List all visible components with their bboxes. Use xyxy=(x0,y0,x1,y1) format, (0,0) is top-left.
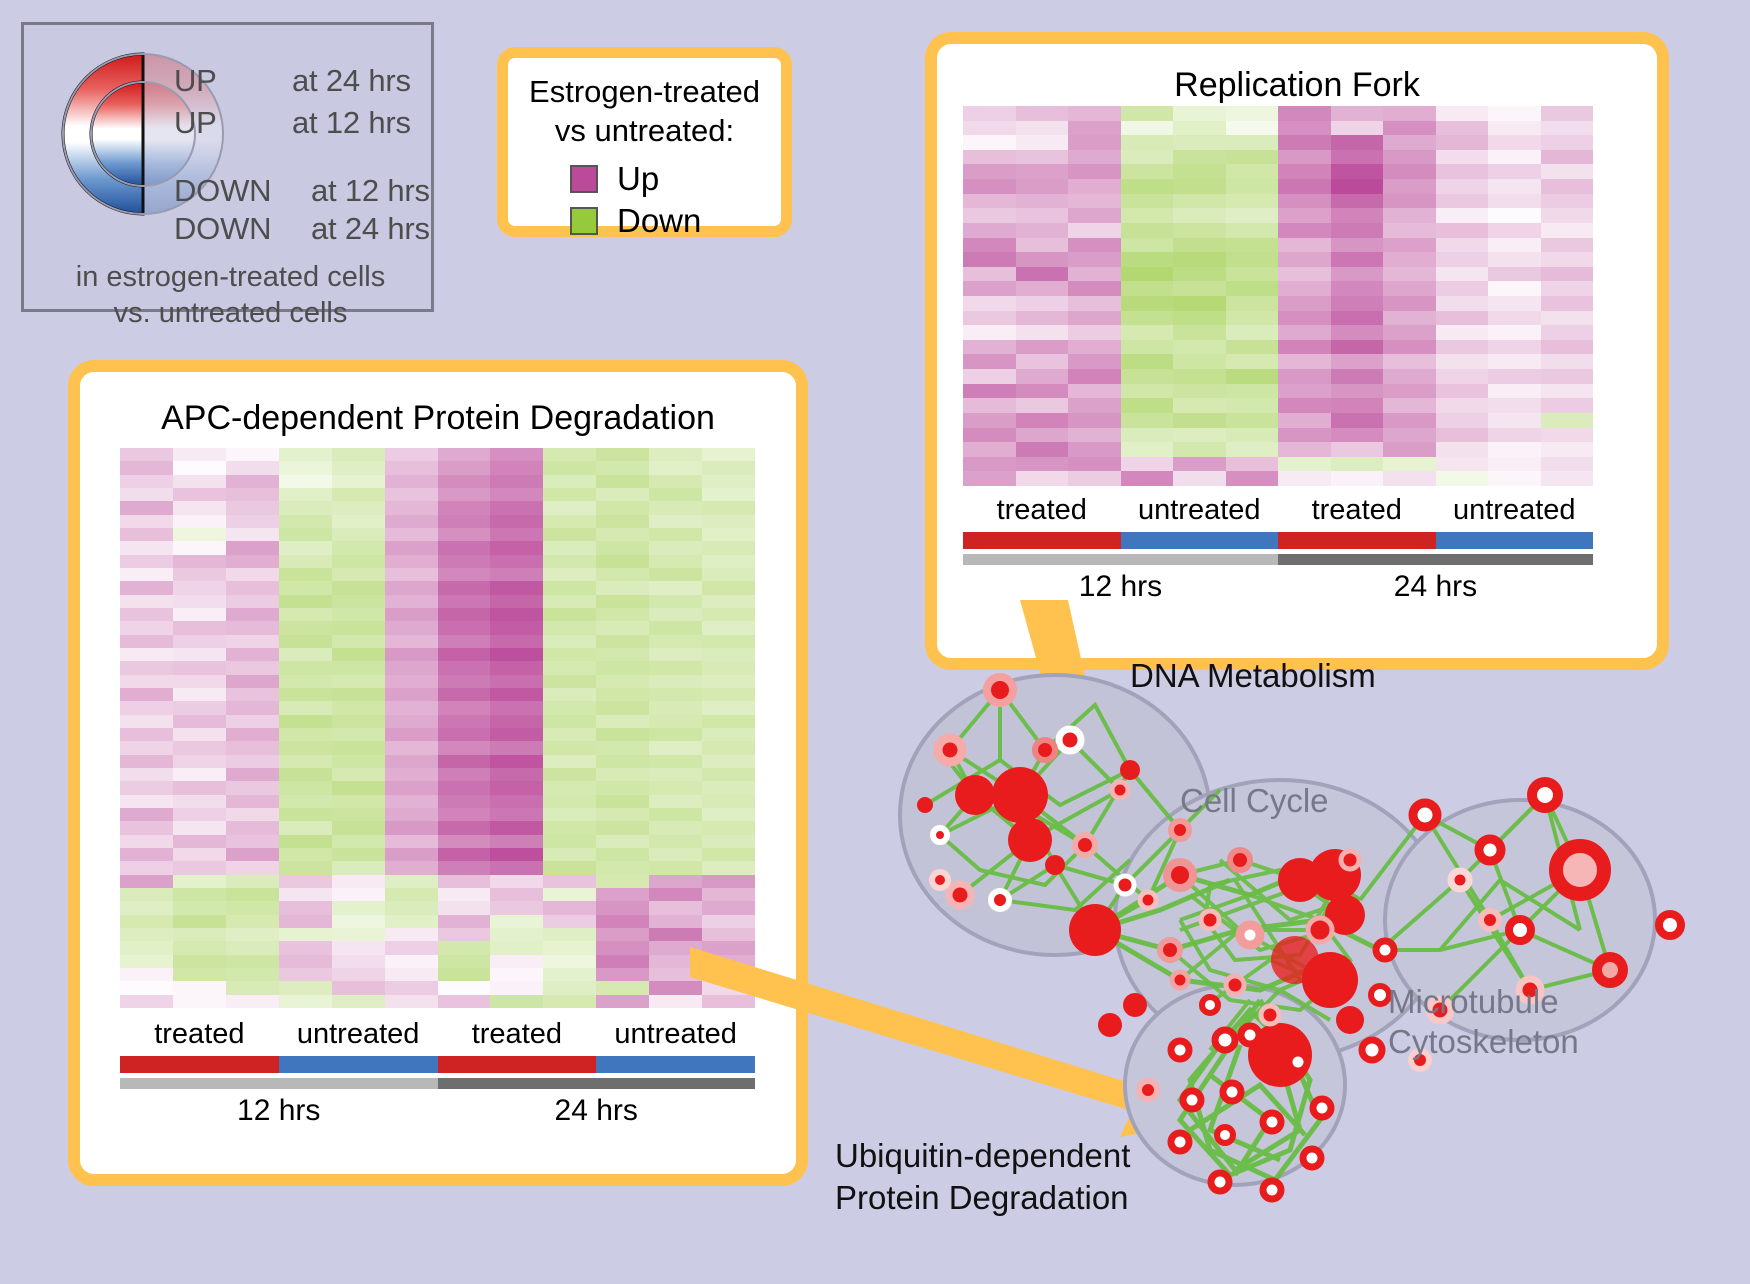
heatmap-cell xyxy=(332,808,385,821)
heatmap-cell xyxy=(543,461,596,474)
heatmap-cell xyxy=(596,995,649,1008)
heatmap-cell xyxy=(649,808,702,821)
heatmap-cell xyxy=(438,501,491,514)
heatmap-cell xyxy=(596,528,649,541)
heatmap-cell xyxy=(543,728,596,741)
heatmap-cell xyxy=(226,568,279,581)
heatmap-cell xyxy=(1226,413,1279,428)
heatmap-cell xyxy=(438,995,491,1008)
heatmap-cell xyxy=(120,755,173,768)
heatmap-cell xyxy=(1488,354,1541,369)
heatmap-cell xyxy=(702,715,755,728)
heatmap-cell xyxy=(385,888,438,901)
group-color-bar-apc xyxy=(120,1056,755,1073)
heatmap-cell xyxy=(120,768,173,781)
heatmap-cell xyxy=(1016,471,1069,486)
heatmap-cell xyxy=(702,581,755,594)
heatmap-cell xyxy=(1226,121,1279,136)
group-color-segment xyxy=(279,1056,438,1073)
heatmap-cell xyxy=(543,901,596,914)
heatmap-cell xyxy=(649,715,702,728)
heatmap-cell xyxy=(120,781,173,794)
heatmap-cell xyxy=(702,755,755,768)
heatmap-cell xyxy=(332,581,385,594)
heatmap-cell xyxy=(1016,164,1069,179)
heatmap-cell xyxy=(1278,354,1331,369)
heatmap-cell xyxy=(120,928,173,941)
heatmap-cell xyxy=(1173,325,1226,340)
heatmap-cell xyxy=(1541,442,1594,457)
heatmap-cell xyxy=(1173,252,1226,267)
heatmap-cell xyxy=(173,595,226,608)
heatmap-cell xyxy=(543,981,596,994)
heatmap-cell xyxy=(490,928,543,941)
network-label-microtubule-cytoskeleton: Microtubule Cytoskeleton xyxy=(1388,982,1579,1062)
heatmap-cell xyxy=(1121,471,1174,486)
heatmap-cell xyxy=(279,968,332,981)
heatmap-cell xyxy=(1488,369,1541,384)
heatmap-cell xyxy=(1068,471,1121,486)
heatmap-cell xyxy=(120,595,173,608)
heatmap-cell xyxy=(332,901,385,914)
heatmap-cell xyxy=(1278,413,1331,428)
heatmap-cell xyxy=(1016,208,1069,223)
heatmap-cell xyxy=(702,488,755,501)
heatmap-cell xyxy=(120,541,173,554)
heatmap-cell xyxy=(438,595,491,608)
heatmap-cell xyxy=(279,888,332,901)
heatmap-cell xyxy=(438,981,491,994)
heatmap-cell xyxy=(1541,296,1594,311)
heatmap-cell xyxy=(1436,413,1489,428)
heatmap-cell xyxy=(543,768,596,781)
heatmap-cell xyxy=(702,461,755,474)
heatmap-cell xyxy=(1016,384,1069,399)
heatmap-cell xyxy=(173,875,226,888)
heatmap-cell xyxy=(596,501,649,514)
heatmap-cell xyxy=(1226,135,1279,150)
heatmap-cell xyxy=(332,995,385,1008)
heatmap-cell xyxy=(596,475,649,488)
heatmap-cell xyxy=(490,995,543,1008)
timepoint-color-segment xyxy=(1278,554,1593,565)
heatmap-cell xyxy=(385,808,438,821)
heatmap-cell xyxy=(1278,164,1331,179)
heatmap-cell xyxy=(1436,179,1489,194)
heatmap-cell xyxy=(1383,164,1436,179)
heatmap-cell xyxy=(1383,384,1436,399)
heatmap-cell xyxy=(226,475,279,488)
timepoint-label: 12 hrs xyxy=(963,570,1278,604)
heatmap-cell xyxy=(120,715,173,728)
heatmap-cell xyxy=(173,675,226,688)
heatmap-cell xyxy=(490,555,543,568)
heatmap-cell xyxy=(1488,325,1541,340)
heatmap-cell xyxy=(332,928,385,941)
group-color-segment xyxy=(1436,532,1594,549)
heatmap-cell xyxy=(438,715,491,728)
heatmap-cell xyxy=(702,835,755,848)
heatmap-cell xyxy=(1331,369,1384,384)
network-label-cell-cycle: Cell Cycle xyxy=(1180,782,1329,820)
heatmap-cell xyxy=(226,555,279,568)
heatmap-cell xyxy=(649,555,702,568)
heatmap-cell xyxy=(332,568,385,581)
heatmap-cell xyxy=(543,955,596,968)
heatmap-replication-fork xyxy=(963,106,1593,486)
heatmap-cell xyxy=(543,835,596,848)
heatmap-cell xyxy=(1278,194,1331,209)
panel-title-replication-fork: Replication Fork xyxy=(937,66,1657,105)
heatmap-cell xyxy=(1121,150,1174,165)
heatmap-cell xyxy=(226,728,279,741)
heatmap-cell xyxy=(1278,267,1331,282)
heatmap-cell xyxy=(1016,252,1069,267)
heatmap-cell xyxy=(596,715,649,728)
heatmap-cell xyxy=(385,728,438,741)
heatmap-cell xyxy=(702,515,755,528)
heatmap-cell xyxy=(1436,398,1489,413)
heatmap-cell xyxy=(438,648,491,661)
heatmap-cell xyxy=(490,661,543,674)
heatmap-cell xyxy=(649,581,702,594)
heatmap-cell xyxy=(649,848,702,861)
heatmap-cell xyxy=(1173,442,1226,457)
group-color-segment xyxy=(438,1056,597,1073)
heatmap-cell xyxy=(332,701,385,714)
heatmap-cell xyxy=(596,635,649,648)
heatmap-cell xyxy=(1068,428,1121,443)
heatmap-cell xyxy=(963,267,1016,282)
heatmap-cell xyxy=(173,515,226,528)
heatmap-cell xyxy=(173,968,226,981)
heatmap-cell xyxy=(596,688,649,701)
heatmap-cell xyxy=(1173,179,1226,194)
key-row-0-left: UP xyxy=(174,63,217,99)
heatmap-cell xyxy=(1488,296,1541,311)
heatmap-cell xyxy=(1278,471,1331,486)
heatmap-cell xyxy=(120,901,173,914)
heatmap-cell xyxy=(1068,223,1121,238)
heatmap-cell xyxy=(543,621,596,634)
annotation-replication-fork: treateduntreatedtreateduntreated 12 hrs2… xyxy=(963,494,1593,604)
heatmap-cell xyxy=(1436,354,1489,369)
heatmap-cell xyxy=(332,661,385,674)
heatmap-cell xyxy=(385,768,438,781)
heatmap-cell xyxy=(963,384,1016,399)
heatmap-cell xyxy=(438,955,491,968)
heatmap-cell xyxy=(173,448,226,461)
heatmap-cell xyxy=(596,875,649,888)
heatmap-cell xyxy=(649,621,702,634)
heatmap-cell xyxy=(120,848,173,861)
heatmap-cell xyxy=(1226,428,1279,443)
heatmap-cell xyxy=(226,515,279,528)
heatmap-cell xyxy=(332,795,385,808)
heatmap-cell xyxy=(649,675,702,688)
heatmap-cell xyxy=(1016,106,1069,121)
heatmap-cell xyxy=(543,675,596,688)
heatmap-cell xyxy=(120,981,173,994)
heatmap-cell xyxy=(120,648,173,661)
heatmap-cell xyxy=(596,701,649,714)
heatmap-cell xyxy=(596,541,649,554)
heatmap-cell xyxy=(596,461,649,474)
heatmap-cell xyxy=(279,515,332,528)
heatmap-cell xyxy=(120,808,173,821)
network-label-microtubule-line1: Microtubule xyxy=(1388,982,1579,1022)
heatmap-cell xyxy=(1016,194,1069,209)
heatmap-cell xyxy=(120,795,173,808)
heatmap-cell xyxy=(438,848,491,861)
heatmap-cell xyxy=(1121,311,1174,326)
heatmap-cell xyxy=(1226,164,1279,179)
heatmap-cell xyxy=(332,488,385,501)
heatmap-cell xyxy=(1278,325,1331,340)
heatmap-cell xyxy=(543,781,596,794)
heatmap-cell xyxy=(173,541,226,554)
heatmap-cell xyxy=(543,928,596,941)
heatmap-cell xyxy=(120,675,173,688)
legend-item-up: Up xyxy=(570,162,659,195)
heatmap-cell xyxy=(1068,281,1121,296)
heatmap-cell xyxy=(438,568,491,581)
group-label: treated xyxy=(1278,494,1436,527)
network-label-ubiquitin-line2: Protein Degradation xyxy=(835,1177,1130,1219)
heatmap-cell xyxy=(702,475,755,488)
heatmap-cell xyxy=(1541,325,1594,340)
heatmap-cell xyxy=(1173,296,1226,311)
heatmap-cell xyxy=(1331,106,1384,121)
heatmap-cell xyxy=(649,608,702,621)
heatmap-cell xyxy=(1278,442,1331,457)
heatmap-cell xyxy=(226,781,279,794)
heatmap-cell xyxy=(173,915,226,928)
heatmap-cell xyxy=(1331,121,1384,136)
heatmap-cell xyxy=(1331,354,1384,369)
heatmap-cell xyxy=(1121,238,1174,253)
heatmap-cell xyxy=(543,755,596,768)
heatmap-cell xyxy=(332,981,385,994)
heatmap-cell xyxy=(438,808,491,821)
heatmap-cell xyxy=(1016,135,1069,150)
heatmap-cell xyxy=(1068,311,1121,326)
heatmap-cell xyxy=(332,915,385,928)
heatmap-cell xyxy=(1226,442,1279,457)
heatmap-cell xyxy=(1121,398,1174,413)
heatmap-cell xyxy=(1383,252,1436,267)
heatmap-cell xyxy=(1436,194,1489,209)
heatmap-cell xyxy=(1173,223,1226,238)
heatmap-cell xyxy=(226,675,279,688)
legend-swatch-down xyxy=(570,207,598,235)
heatmap-cell xyxy=(649,861,702,874)
heatmap-cell xyxy=(438,728,491,741)
heatmap-cell xyxy=(332,648,385,661)
heatmap-cell xyxy=(596,595,649,608)
heatmap-cell xyxy=(1278,121,1331,136)
heatmap-cell xyxy=(385,461,438,474)
heatmap-cell xyxy=(385,968,438,981)
heatmap-cell xyxy=(120,568,173,581)
heatmap-cell xyxy=(332,968,385,981)
group-color-bar-replication-fork xyxy=(963,532,1593,549)
heatmap-cell xyxy=(1226,325,1279,340)
heatmap-cell xyxy=(543,941,596,954)
heatmap-cell xyxy=(1541,428,1594,443)
heatmap-cell xyxy=(596,768,649,781)
heatmap-cell xyxy=(332,888,385,901)
heatmap-cell xyxy=(332,688,385,701)
heatmap-cell xyxy=(1278,252,1331,267)
heatmap-cell xyxy=(596,728,649,741)
heatmap-cell xyxy=(1226,384,1279,399)
heatmap-cell xyxy=(1436,369,1489,384)
heatmap-cell xyxy=(1436,442,1489,457)
heatmap-cell xyxy=(385,741,438,754)
heatmap-cell xyxy=(490,955,543,968)
heatmap-cell xyxy=(1541,106,1594,121)
heatmap-cell xyxy=(438,475,491,488)
heatmap-cell xyxy=(1278,106,1331,121)
heatmap-cell xyxy=(173,795,226,808)
heatmap-cell xyxy=(1016,311,1069,326)
heatmap-cell xyxy=(1541,179,1594,194)
heatmap-cell xyxy=(1331,340,1384,355)
heatmap-cell xyxy=(1068,135,1121,150)
heatmap-cell xyxy=(279,915,332,928)
heatmap-cell xyxy=(1121,267,1174,282)
heatmap-cell xyxy=(385,928,438,941)
heatmap-cell xyxy=(649,661,702,674)
heatmap-cell xyxy=(173,688,226,701)
legend-title-line2: vs untreated: xyxy=(508,111,781,150)
heatmap-cell xyxy=(279,595,332,608)
heatmap-cell xyxy=(1121,281,1174,296)
heatmap-cell xyxy=(438,861,491,874)
heatmap-cell xyxy=(596,608,649,621)
heatmap-cell xyxy=(596,741,649,754)
heatmap-cell xyxy=(1488,442,1541,457)
heatmap-cell xyxy=(279,768,332,781)
heatmap-cell xyxy=(490,675,543,688)
heatmap-cell xyxy=(490,608,543,621)
heatmap-cell xyxy=(1016,325,1069,340)
heatmap-cell xyxy=(1488,238,1541,253)
heatmap-cell xyxy=(596,448,649,461)
heatmap-cell xyxy=(385,595,438,608)
heatmap-cell xyxy=(120,461,173,474)
network-label-ubiquitin-line1: Ubiquitin-dependent xyxy=(835,1135,1130,1177)
timepoint-color-bar-apc xyxy=(120,1078,755,1089)
heatmap-cell xyxy=(702,875,755,888)
heatmap-cell xyxy=(596,848,649,861)
heatmap-cell xyxy=(1068,296,1121,311)
heatmap-cell xyxy=(1226,398,1279,413)
heatmap-cell xyxy=(438,448,491,461)
heatmap-cell xyxy=(385,795,438,808)
heatmap-cell xyxy=(385,688,438,701)
heatmap-cell xyxy=(1541,369,1594,384)
heatmap-cell xyxy=(490,741,543,754)
heatmap-cell xyxy=(279,675,332,688)
heatmap-cell xyxy=(963,281,1016,296)
heatmap-cell xyxy=(1278,296,1331,311)
heatmap-cell xyxy=(120,701,173,714)
heatmap-cell xyxy=(1331,311,1384,326)
heatmap-cell xyxy=(702,795,755,808)
heatmap-cell xyxy=(332,461,385,474)
heatmap-cell xyxy=(120,488,173,501)
heatmap-cell xyxy=(1068,121,1121,136)
heatmap-cell xyxy=(1488,267,1541,282)
heatmap-cell xyxy=(1173,428,1226,443)
heatmap-cell xyxy=(1226,354,1279,369)
heatmap-cell xyxy=(1541,135,1594,150)
heatmap-cell xyxy=(1541,252,1594,267)
heatmap-cell xyxy=(438,488,491,501)
network-label-microtubule-line2: Cytoskeleton xyxy=(1388,1022,1579,1062)
heatmap-cell xyxy=(490,968,543,981)
group-labels-apc: treateduntreatedtreateduntreated xyxy=(120,1018,755,1051)
heatmap-cell xyxy=(226,941,279,954)
heatmap-cell xyxy=(1383,121,1436,136)
heatmap-cell xyxy=(490,715,543,728)
timepoint-color-bar-replication-fork xyxy=(963,554,1593,565)
timepoint-labels-replication-fork: 12 hrs24 hrs xyxy=(963,570,1593,604)
heatmap-cell xyxy=(490,848,543,861)
heatmap-cell xyxy=(1331,457,1384,472)
heatmap-cell xyxy=(385,995,438,1008)
heatmap-cell xyxy=(332,635,385,648)
heatmap-cell xyxy=(649,821,702,834)
heatmap-cell xyxy=(1173,354,1226,369)
heatmap-cell xyxy=(702,768,755,781)
heatmap-cell xyxy=(1068,325,1121,340)
heatmap-cell xyxy=(1226,296,1279,311)
heatmap-cell xyxy=(173,488,226,501)
heatmap-cell xyxy=(1436,106,1489,121)
heatmap-cell xyxy=(490,981,543,994)
heatmap-cell xyxy=(438,968,491,981)
timepoint-label: 12 hrs xyxy=(120,1094,438,1128)
heatmap-cell xyxy=(1226,340,1279,355)
heatmap-cell xyxy=(173,781,226,794)
heatmap-cell xyxy=(1173,398,1226,413)
heatmap-cell xyxy=(490,861,543,874)
heatmap-cell xyxy=(1541,398,1594,413)
heatmap-cell xyxy=(649,488,702,501)
heatmap-cell xyxy=(702,608,755,621)
heatmap-cell xyxy=(1173,238,1226,253)
heatmap-cell xyxy=(1541,413,1594,428)
heatmap-cell xyxy=(1331,398,1384,413)
heatmap-cell xyxy=(332,475,385,488)
heatmap-cell xyxy=(649,768,702,781)
heatmap-cell xyxy=(1383,150,1436,165)
heatmap-cell xyxy=(173,528,226,541)
heatmap-cell xyxy=(173,501,226,514)
heatmap-cell xyxy=(332,501,385,514)
heatmap-cell xyxy=(963,369,1016,384)
heatmap-cell xyxy=(1436,457,1489,472)
network-diagram: DNA Metabolism Cell Cycle Microtubule Cy… xyxy=(880,630,1750,1279)
heatmap-cell xyxy=(1016,340,1069,355)
heatmap-cell xyxy=(385,555,438,568)
heatmap-cell xyxy=(1488,281,1541,296)
heatmap-cell xyxy=(120,608,173,621)
heatmap-cell xyxy=(1383,281,1436,296)
